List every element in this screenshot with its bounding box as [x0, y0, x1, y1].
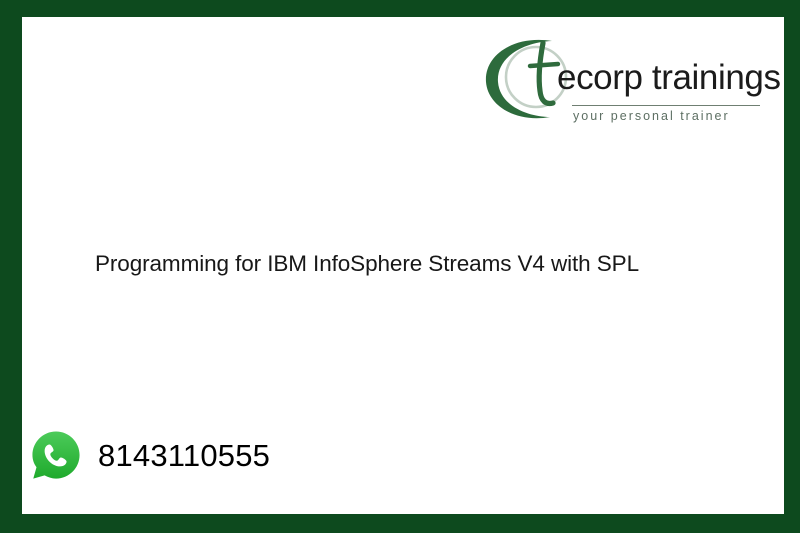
logo-divider-rule	[572, 105, 760, 106]
brand-logo[interactable]: ecorp trainings your personal trainer	[480, 33, 770, 141]
phone-number[interactable]: 8143110555	[98, 440, 270, 471]
logo-tagline: your personal trainer	[573, 110, 730, 123]
logo-wordmark: ecorp trainings	[557, 60, 781, 95]
slide-content-panel: ecorp trainings your personal trainer Pr…	[22, 17, 784, 514]
page-title: Programming for IBM InfoSphere Streams V…	[95, 249, 755, 278]
contact-block[interactable]: 8143110555	[30, 429, 270, 481]
whatsapp-icon[interactable]	[30, 429, 82, 481]
slide-frame: ecorp trainings your personal trainer Pr…	[0, 0, 800, 533]
